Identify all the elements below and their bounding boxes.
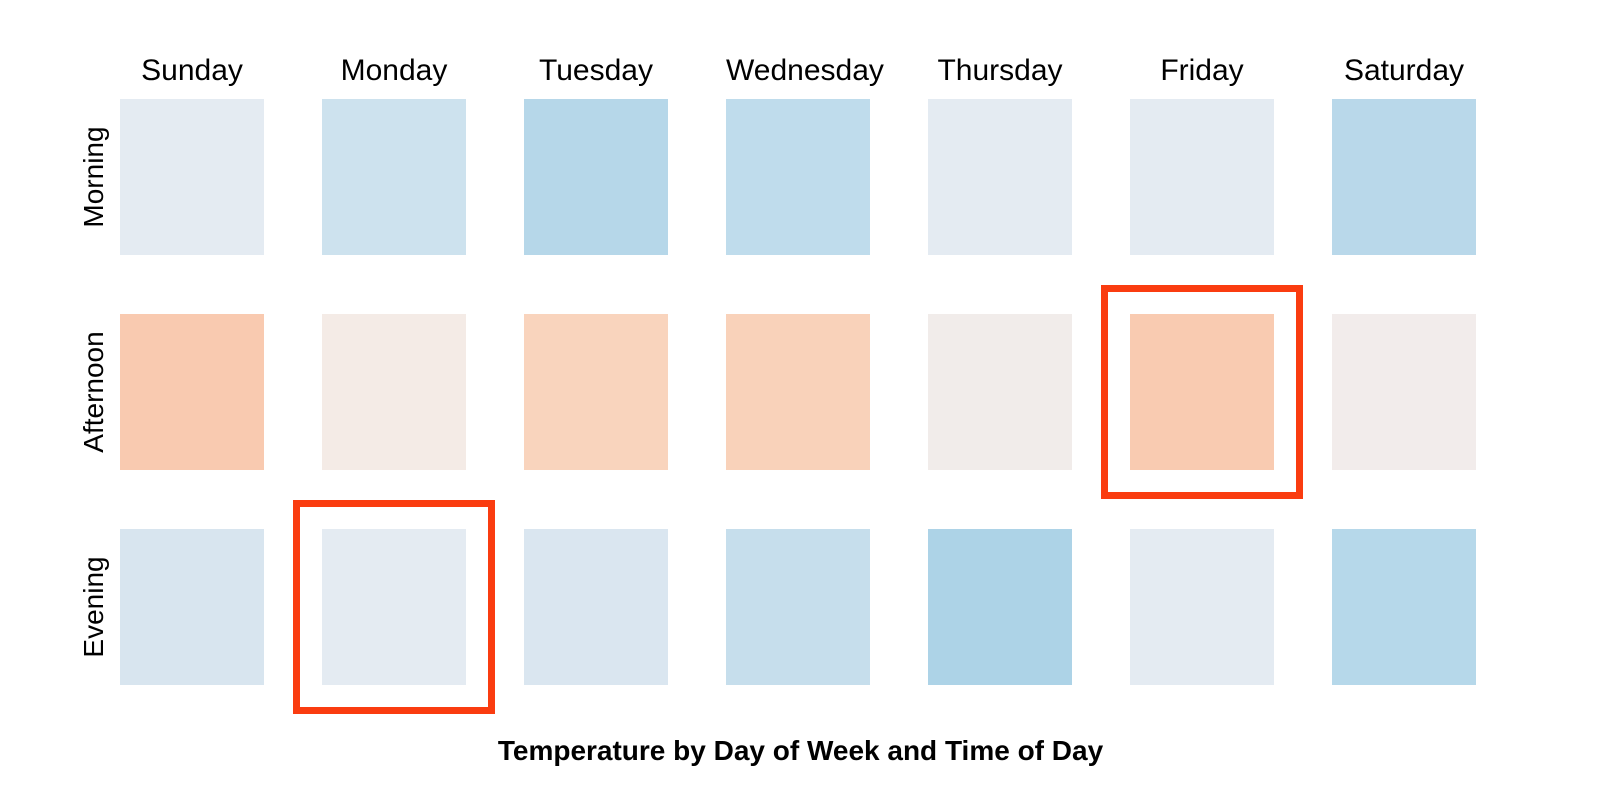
heatmap-cell-friday-morning[interactable] [1130, 99, 1274, 255]
column-header-saturday: Saturday [1332, 54, 1476, 88]
column-header-monday: Monday [322, 54, 466, 88]
heatmap-cell-friday-afternoon[interactable] [1130, 314, 1274, 470]
heatmap-cell-tuesday-morning[interactable] [524, 99, 668, 255]
heatmap-cell-sunday-morning[interactable] [120, 99, 264, 255]
column-header-sunday: Sunday [120, 54, 264, 88]
chart-title: Temperature by Day of Week and Time of D… [0, 735, 1601, 767]
heatmap-cell-thursday-evening[interactable] [928, 529, 1072, 685]
row-label-evening: Evening [78, 529, 110, 685]
heatmap-cell-wednesday-evening[interactable] [726, 529, 870, 685]
heatmap-figure: SundayMondayTuesdayWednesdayThursdayFrid… [0, 0, 1601, 801]
column-header-tuesday: Tuesday [524, 54, 668, 88]
heatmap-cell-tuesday-evening[interactable] [524, 529, 668, 685]
heatmap-cell-thursday-morning[interactable] [928, 99, 1072, 255]
heatmap-cell-sunday-afternoon[interactable] [120, 314, 264, 470]
heatmap-cell-thursday-afternoon[interactable] [928, 314, 1072, 470]
heatmap-cell-sunday-evening[interactable] [120, 529, 264, 685]
heatmap-cell-wednesday-afternoon[interactable] [726, 314, 870, 470]
column-header-friday: Friday [1130, 54, 1274, 88]
heatmap-cell-saturday-evening[interactable] [1332, 529, 1476, 685]
heatmap-cell-tuesday-afternoon[interactable] [524, 314, 668, 470]
column-header-wednesday: Wednesday [726, 54, 870, 88]
heatmap-cell-friday-evening[interactable] [1130, 529, 1274, 685]
heatmap-cell-monday-morning[interactable] [322, 99, 466, 255]
heatmap-cell-monday-afternoon[interactable] [322, 314, 466, 470]
heatmap-cell-monday-evening[interactable] [322, 529, 466, 685]
heatmap-cell-saturday-afternoon[interactable] [1332, 314, 1476, 470]
row-label-morning: Morning [78, 99, 110, 255]
heatmap-cell-wednesday-morning[interactable] [726, 99, 870, 255]
row-label-afternoon: Afternoon [78, 314, 110, 470]
heatmap-cell-saturday-morning[interactable] [1332, 99, 1476, 255]
column-header-thursday: Thursday [928, 54, 1072, 88]
